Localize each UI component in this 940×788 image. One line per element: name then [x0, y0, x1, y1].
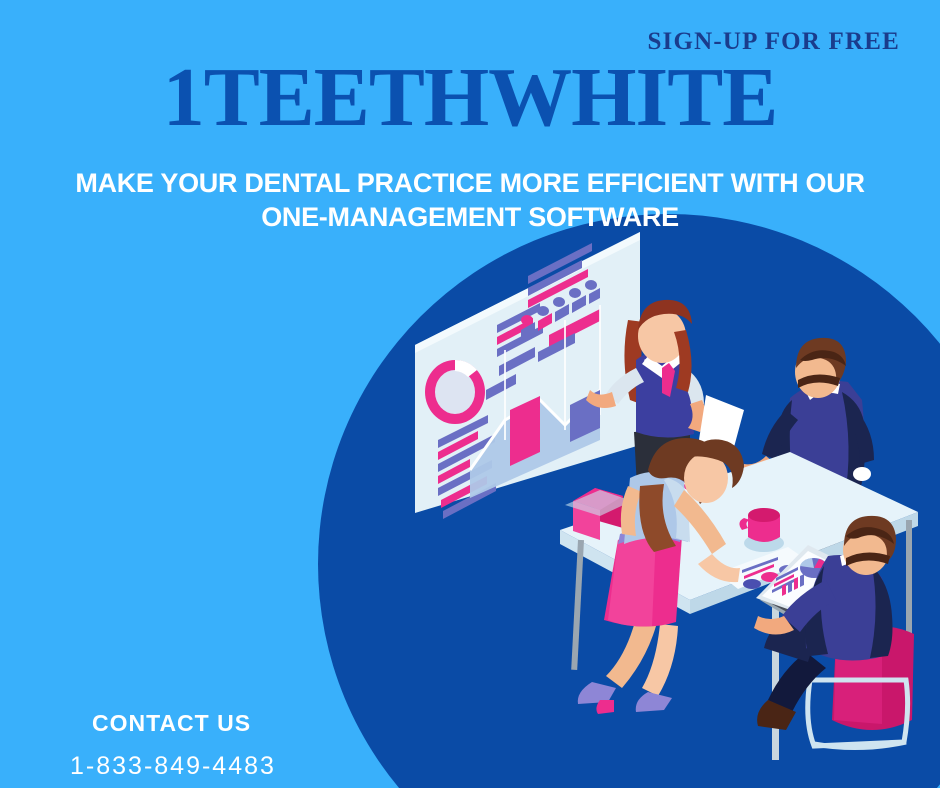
- contact-phone-number[interactable]: 1-833-849-4483: [70, 752, 276, 781]
- tagline-text: Make your dental practice more efficient…: [60, 166, 880, 234]
- woman-at-desk: [578, 438, 744, 714]
- presentation-board: [415, 232, 640, 519]
- donut-chart-icon: [425, 360, 485, 424]
- brand-title: 1TEETHWHITE: [0, 56, 940, 140]
- contact-us-label: CONTACT US: [92, 710, 251, 737]
- marketing-poster: SIGN-UP FOR FREE 1TEETHWHITE Make your d…: [0, 0, 940, 788]
